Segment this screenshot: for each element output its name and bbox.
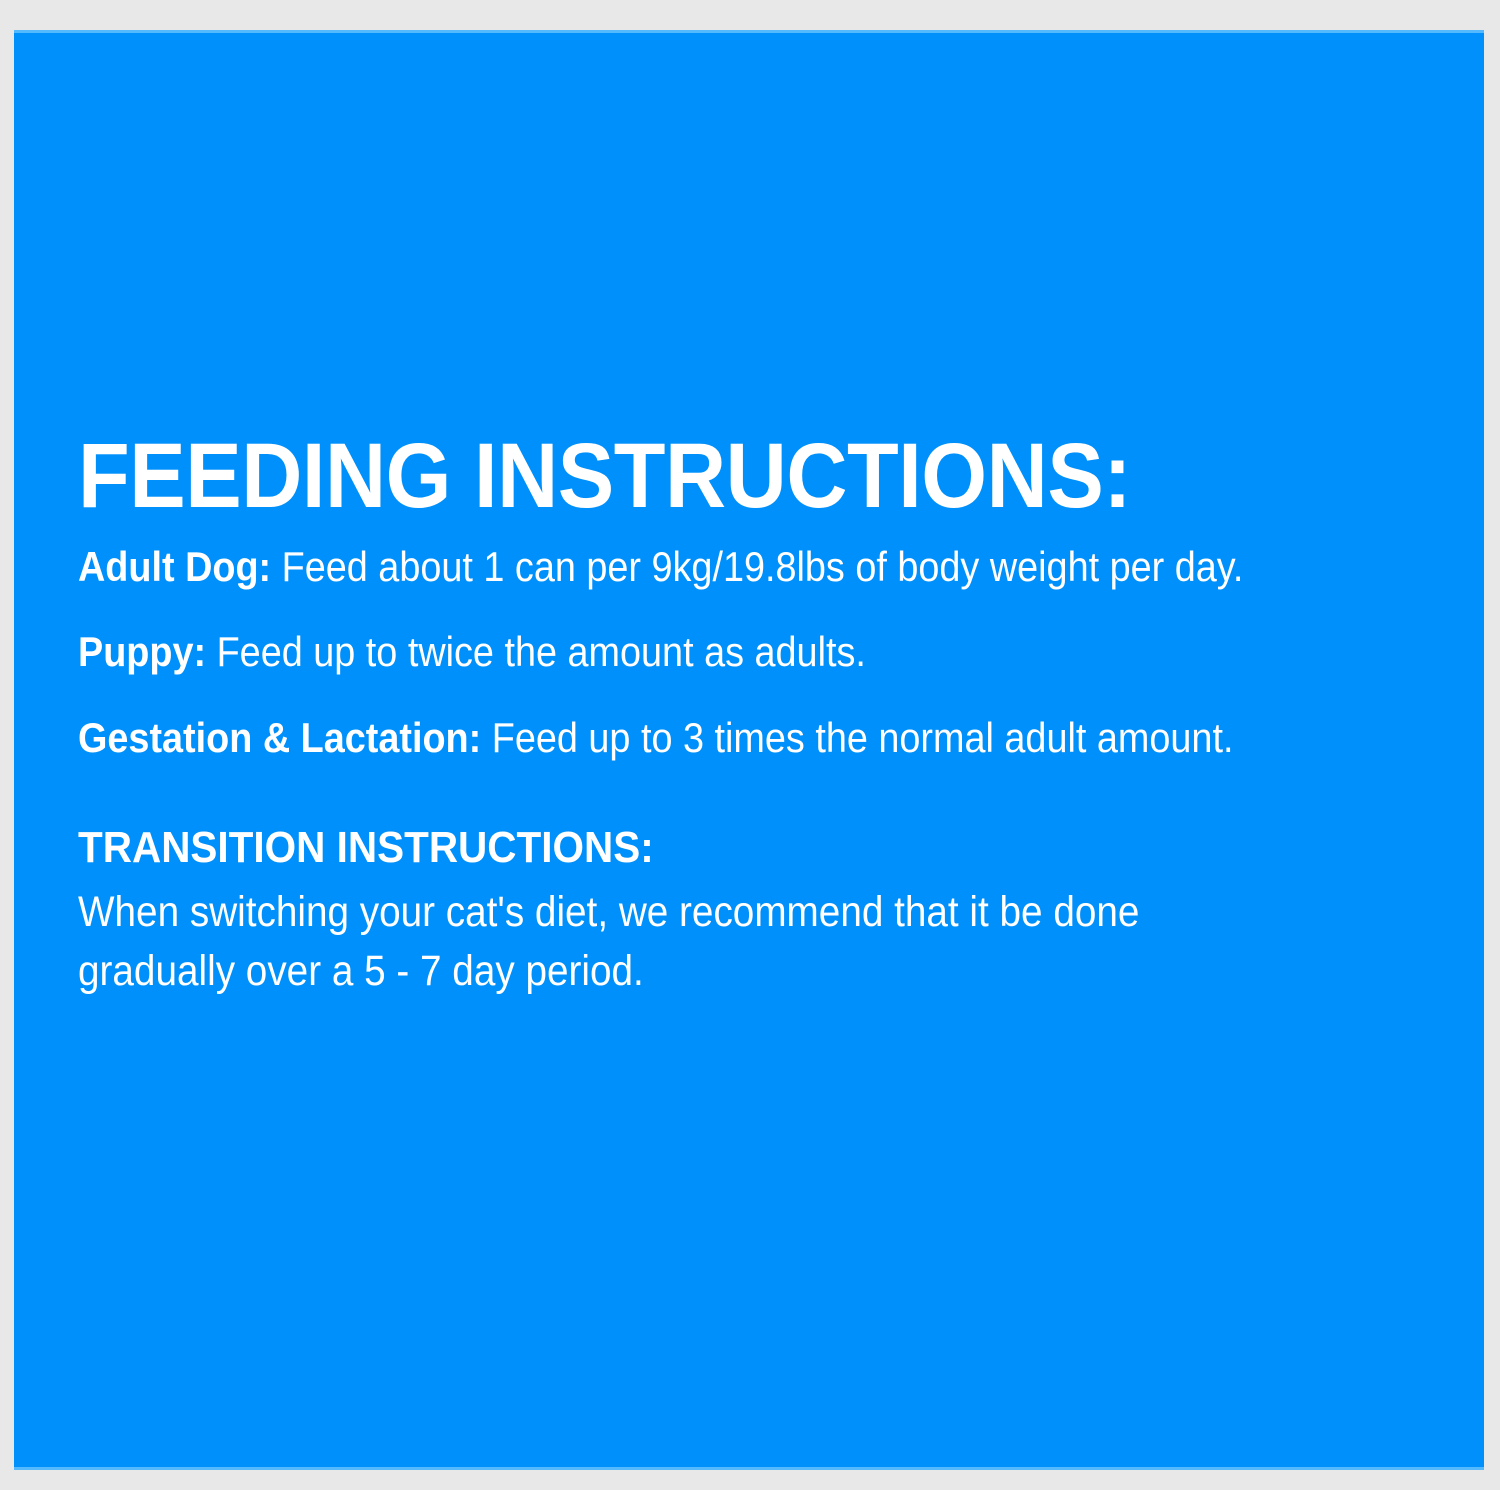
- panel-top-edge: [14, 30, 1484, 33]
- transition-instructions-block: TRANSITION INSTRUCTIONS: When switching …: [78, 824, 1458, 1001]
- bottom-white-strip: [0, 1490, 1500, 1500]
- feeding-row-adult-dog-text: Feed about 1 can per 9kg/19.8lbs of body…: [271, 543, 1243, 590]
- transition-instructions-body: When switching your cat's diet, we recom…: [78, 883, 1275, 1002]
- feeding-row-gestation-lactation-label: Gestation & Lactation:: [78, 714, 481, 761]
- page-canvas: FEEDING INSTRUCTIONS: Adult Dog: Feed ab…: [0, 0, 1500, 1500]
- feeding-instructions-title: FEEDING INSTRUCTIONS:: [78, 430, 1348, 524]
- feeding-row-adult-dog: Adult Dog: Feed about 1 can per 9kg/19.8…: [78, 542, 1320, 592]
- panel-bottom-edge: [14, 1467, 1484, 1470]
- feeding-row-puppy: Puppy: Feed up to twice the amount as ad…: [78, 627, 1320, 677]
- feeding-instructions-panel: FEEDING INSTRUCTIONS: Adult Dog: Feed ab…: [14, 30, 1484, 1470]
- feeding-row-adult-dog-label: Adult Dog:: [78, 543, 271, 590]
- feeding-row-gestation-lactation-text: Feed up to 3 times the normal adult amou…: [481, 714, 1233, 761]
- feeding-row-puppy-text: Feed up to twice the amount as adults.: [206, 628, 866, 675]
- feeding-row-puppy-label: Puppy:: [78, 628, 206, 675]
- transition-body-line-1: When switching your cat's diet, we recom…: [78, 883, 1275, 942]
- transition-body-line-2: gradually over a 5 - 7 day period.: [78, 942, 1275, 1001]
- panel-content: FEEDING INSTRUCTIONS: Adult Dog: Feed ab…: [78, 430, 1458, 1002]
- feeding-row-gestation-lactation: Gestation & Lactation: Feed up to 3 time…: [78, 713, 1320, 763]
- transition-instructions-title: TRANSITION INSTRUCTIONS:: [78, 824, 1348, 872]
